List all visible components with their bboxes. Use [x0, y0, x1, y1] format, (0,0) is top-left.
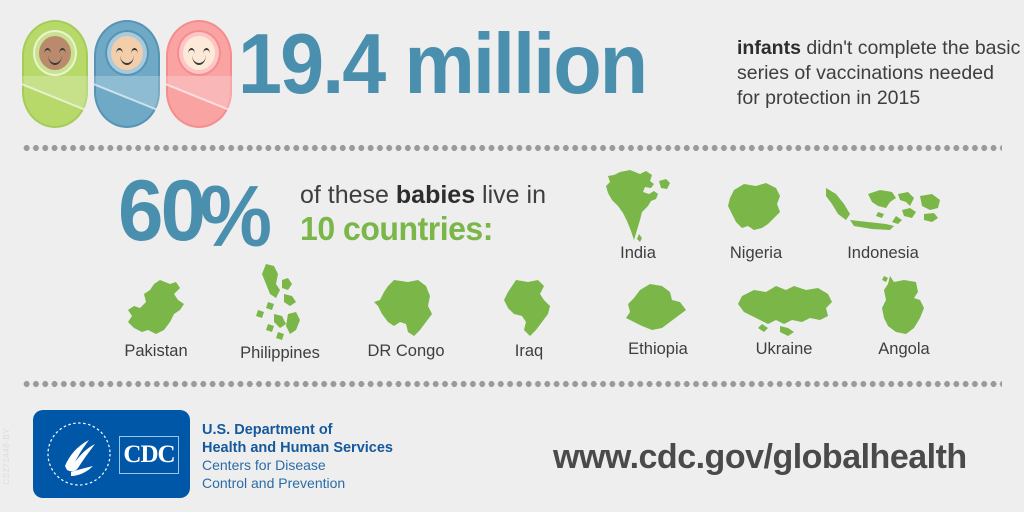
country-pakistan: Pakistan — [114, 278, 198, 361]
percent-caption: of these babies live in 10 countries: — [300, 180, 546, 248]
map-nigeria-icon — [714, 180, 798, 244]
baby-blanket-fold — [94, 76, 160, 128]
agency-line-4: Control and Prevention — [202, 475, 393, 493]
divider-bottom — [22, 381, 1002, 387]
cdc-wordmark: CDC — [119, 436, 179, 474]
percent-caption-line2: 10 countries: — [300, 210, 539, 248]
country-label: Ethiopia — [628, 340, 688, 358]
country-india: India — [596, 168, 680, 263]
baby-blanket-fold — [22, 76, 88, 128]
map-angola-icon — [862, 274, 946, 340]
baby-blanket-fold — [166, 76, 232, 128]
baby-blue-icon — [94, 20, 160, 128]
divider-top — [22, 145, 1002, 151]
map-philippines-icon — [238, 262, 322, 344]
baby-eye-left — [116, 48, 123, 54]
country-label: Nigeria — [730, 244, 782, 262]
caption-pre: of these — [300, 181, 396, 209]
hhs-seal-icon — [45, 420, 113, 488]
agency-name-block: U.S. Department of Health and Human Serv… — [202, 422, 393, 492]
baby-pink-icon — [166, 20, 232, 128]
country-dr-congo: DR Congo — [364, 278, 448, 361]
website-url[interactable]: www.cdc.gov/globalhealth — [553, 438, 967, 477]
baby-eye-right — [203, 48, 210, 54]
baby-eye-left — [44, 48, 51, 54]
caption-post: live in — [475, 181, 546, 209]
percent-value: 60 — [118, 163, 203, 259]
country-angola: Angola — [862, 274, 946, 359]
baby-mouth — [120, 55, 134, 65]
baby-eye-right — [131, 48, 138, 54]
publication-id-watermark: CS272448-BY — [2, 428, 11, 485]
country-label: DR Congo — [367, 342, 444, 360]
country-indonesia: Indonesia — [820, 180, 946, 263]
country-ethiopia: Ethiopia — [616, 282, 700, 359]
percent-caption-line1: of these babies live in — [300, 180, 546, 210]
baby-illustration-group — [22, 20, 232, 128]
percent-figure: 60% — [118, 166, 273, 256]
caption-emphasis: babies — [396, 181, 475, 209]
baby-face — [39, 36, 71, 70]
baby-eye-right — [59, 48, 66, 54]
country-nigeria: Nigeria — [714, 180, 798, 263]
map-dr-congo-icon — [364, 278, 448, 342]
headline-number: 19.4 million — [238, 17, 646, 113]
baby-face — [183, 36, 215, 70]
baby-green-icon — [22, 20, 88, 128]
headline-statement-emphasis: infants — [737, 37, 801, 59]
map-ukraine-icon — [728, 282, 840, 340]
map-indonesia-icon — [820, 180, 946, 244]
country-label: Angola — [878, 340, 929, 358]
agency-line-1: U.S. Department of — [202, 422, 393, 440]
map-pakistan-icon — [114, 278, 198, 342]
country-philippines: Philippines — [238, 262, 322, 363]
percent-symbol: % — [199, 169, 269, 265]
country-label: Pakistan — [124, 342, 187, 360]
country-label: India — [620, 244, 656, 262]
country-label: Indonesia — [847, 244, 919, 262]
baby-mouth — [48, 55, 62, 65]
infographic-canvas: 19.4 million infants didn't complete the… — [0, 0, 1024, 512]
country-ukraine: Ukraine — [728, 282, 840, 359]
headline-statement: infants didn't complete the basic series… — [737, 36, 1022, 111]
baby-eye-left — [188, 48, 195, 54]
cdc-wordmark-text: CDC — [123, 441, 174, 469]
agency-line-3: Centers for Disease — [202, 457, 393, 475]
country-label: Iraq — [515, 342, 543, 360]
map-iraq-icon — [490, 278, 568, 342]
country-iraq: Iraq — [490, 278, 568, 361]
map-ethiopia-icon — [616, 282, 700, 340]
baby-mouth — [192, 55, 206, 65]
cdc-logo: CDC — [33, 410, 190, 498]
map-india-icon — [596, 168, 680, 244]
agency-line-2: Health and Human Services — [202, 440, 393, 458]
country-label: Ukraine — [756, 340, 813, 358]
country-label: Philippines — [240, 344, 320, 362]
baby-face — [111, 36, 143, 70]
